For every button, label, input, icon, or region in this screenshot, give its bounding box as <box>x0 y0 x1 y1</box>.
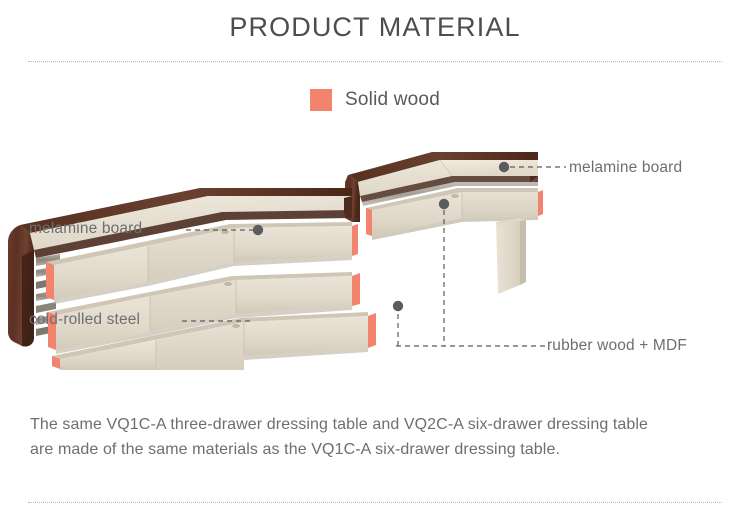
legend: Solid wood <box>0 89 750 111</box>
desk-drawer-right-accent <box>538 190 543 216</box>
divider-bottom <box>28 502 722 503</box>
callout-label-rubber-wood-mdf: rubber wood + MDF <box>547 337 687 355</box>
callout-label-melamine-board-left: melamine board <box>29 220 142 238</box>
square-swatch-icon <box>310 89 332 111</box>
drawer-row-1-front-right <box>234 226 352 262</box>
desk-drawer-front-right <box>462 192 538 218</box>
drawer-row-2-knob <box>224 282 232 286</box>
desk-top-surface-right <box>440 160 538 176</box>
desk-drawer-knob <box>451 194 459 198</box>
desk-leg-panel <box>496 218 520 294</box>
page-title: PRODUCT MATERIAL <box>0 12 750 43</box>
drawer-row-1-right-accent <box>352 224 358 256</box>
drawer-row-1-left-accent <box>46 262 54 300</box>
desk-leg-panel-side <box>520 218 526 285</box>
dot-marker-rubber-desk <box>439 199 449 209</box>
callout-label-melamine-board-right: melamine board <box>569 159 682 177</box>
drawer-row-3-knob <box>232 324 240 328</box>
dot-marker-melamine-right <box>499 162 509 172</box>
drawer-row-3-right-accent <box>368 313 376 348</box>
callout-label-cold-rolled-steel: cold-rolled steel <box>29 311 140 329</box>
dot-marker-melamine-left <box>253 225 263 235</box>
drawer-row-1-knob <box>221 230 229 234</box>
dresser-left-wood-panel-shade <box>22 250 34 347</box>
description-paragraph: The same VQ1C-A three-drawer dressing ta… <box>30 412 675 462</box>
dot-marker-rubber-drawer <box>393 301 403 311</box>
product-material-page: PRODUCT MATERIAL Solid wood <box>0 0 750 528</box>
divider-top <box>28 61 722 62</box>
desk-drawer-left-accent <box>366 208 372 236</box>
dresser-section <box>8 188 376 370</box>
legend-item-label: Solid wood <box>345 89 440 111</box>
drawer-row-2-right-accent <box>352 273 360 306</box>
